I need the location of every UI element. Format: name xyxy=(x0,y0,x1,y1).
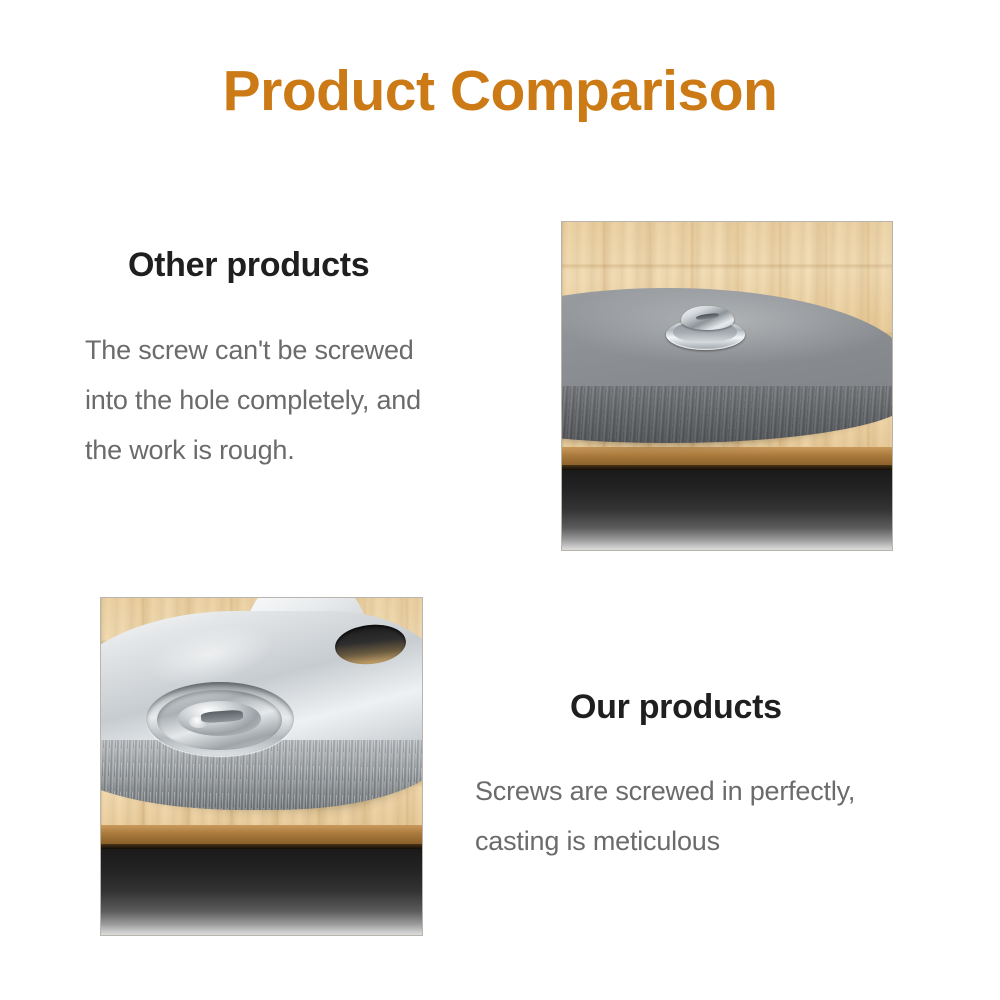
other-products-photo xyxy=(561,221,893,551)
our-products-description: Screws are screwed in perfectly, casting… xyxy=(475,766,955,866)
other-products-description-line-3: the work is rough. xyxy=(85,425,555,475)
wood-bench-front-edge xyxy=(562,447,892,467)
our-products-heading: Our products xyxy=(570,688,782,727)
page-title: Product Comparison xyxy=(0,60,1000,123)
our-products-photo xyxy=(100,597,423,936)
our-products-description-line-1: Screws are screwed in perfectly, xyxy=(475,766,955,816)
our-products-description-line-2: casting is meticulous xyxy=(475,816,955,866)
other-products-photo-scene xyxy=(562,222,892,550)
other-products-description: The screw can't be screwed into the hole… xyxy=(85,325,555,475)
dark-foreground-band xyxy=(562,465,892,550)
wood-bench-front-edge xyxy=(101,825,422,844)
other-products-description-line-1: The screw can't be screwed xyxy=(85,325,555,375)
other-products-heading: Other products xyxy=(128,246,369,285)
dark-foreground-band xyxy=(101,844,422,935)
our-products-photo-scene xyxy=(101,598,422,935)
other-products-description-line-2: into the hole completely, and xyxy=(85,375,555,425)
